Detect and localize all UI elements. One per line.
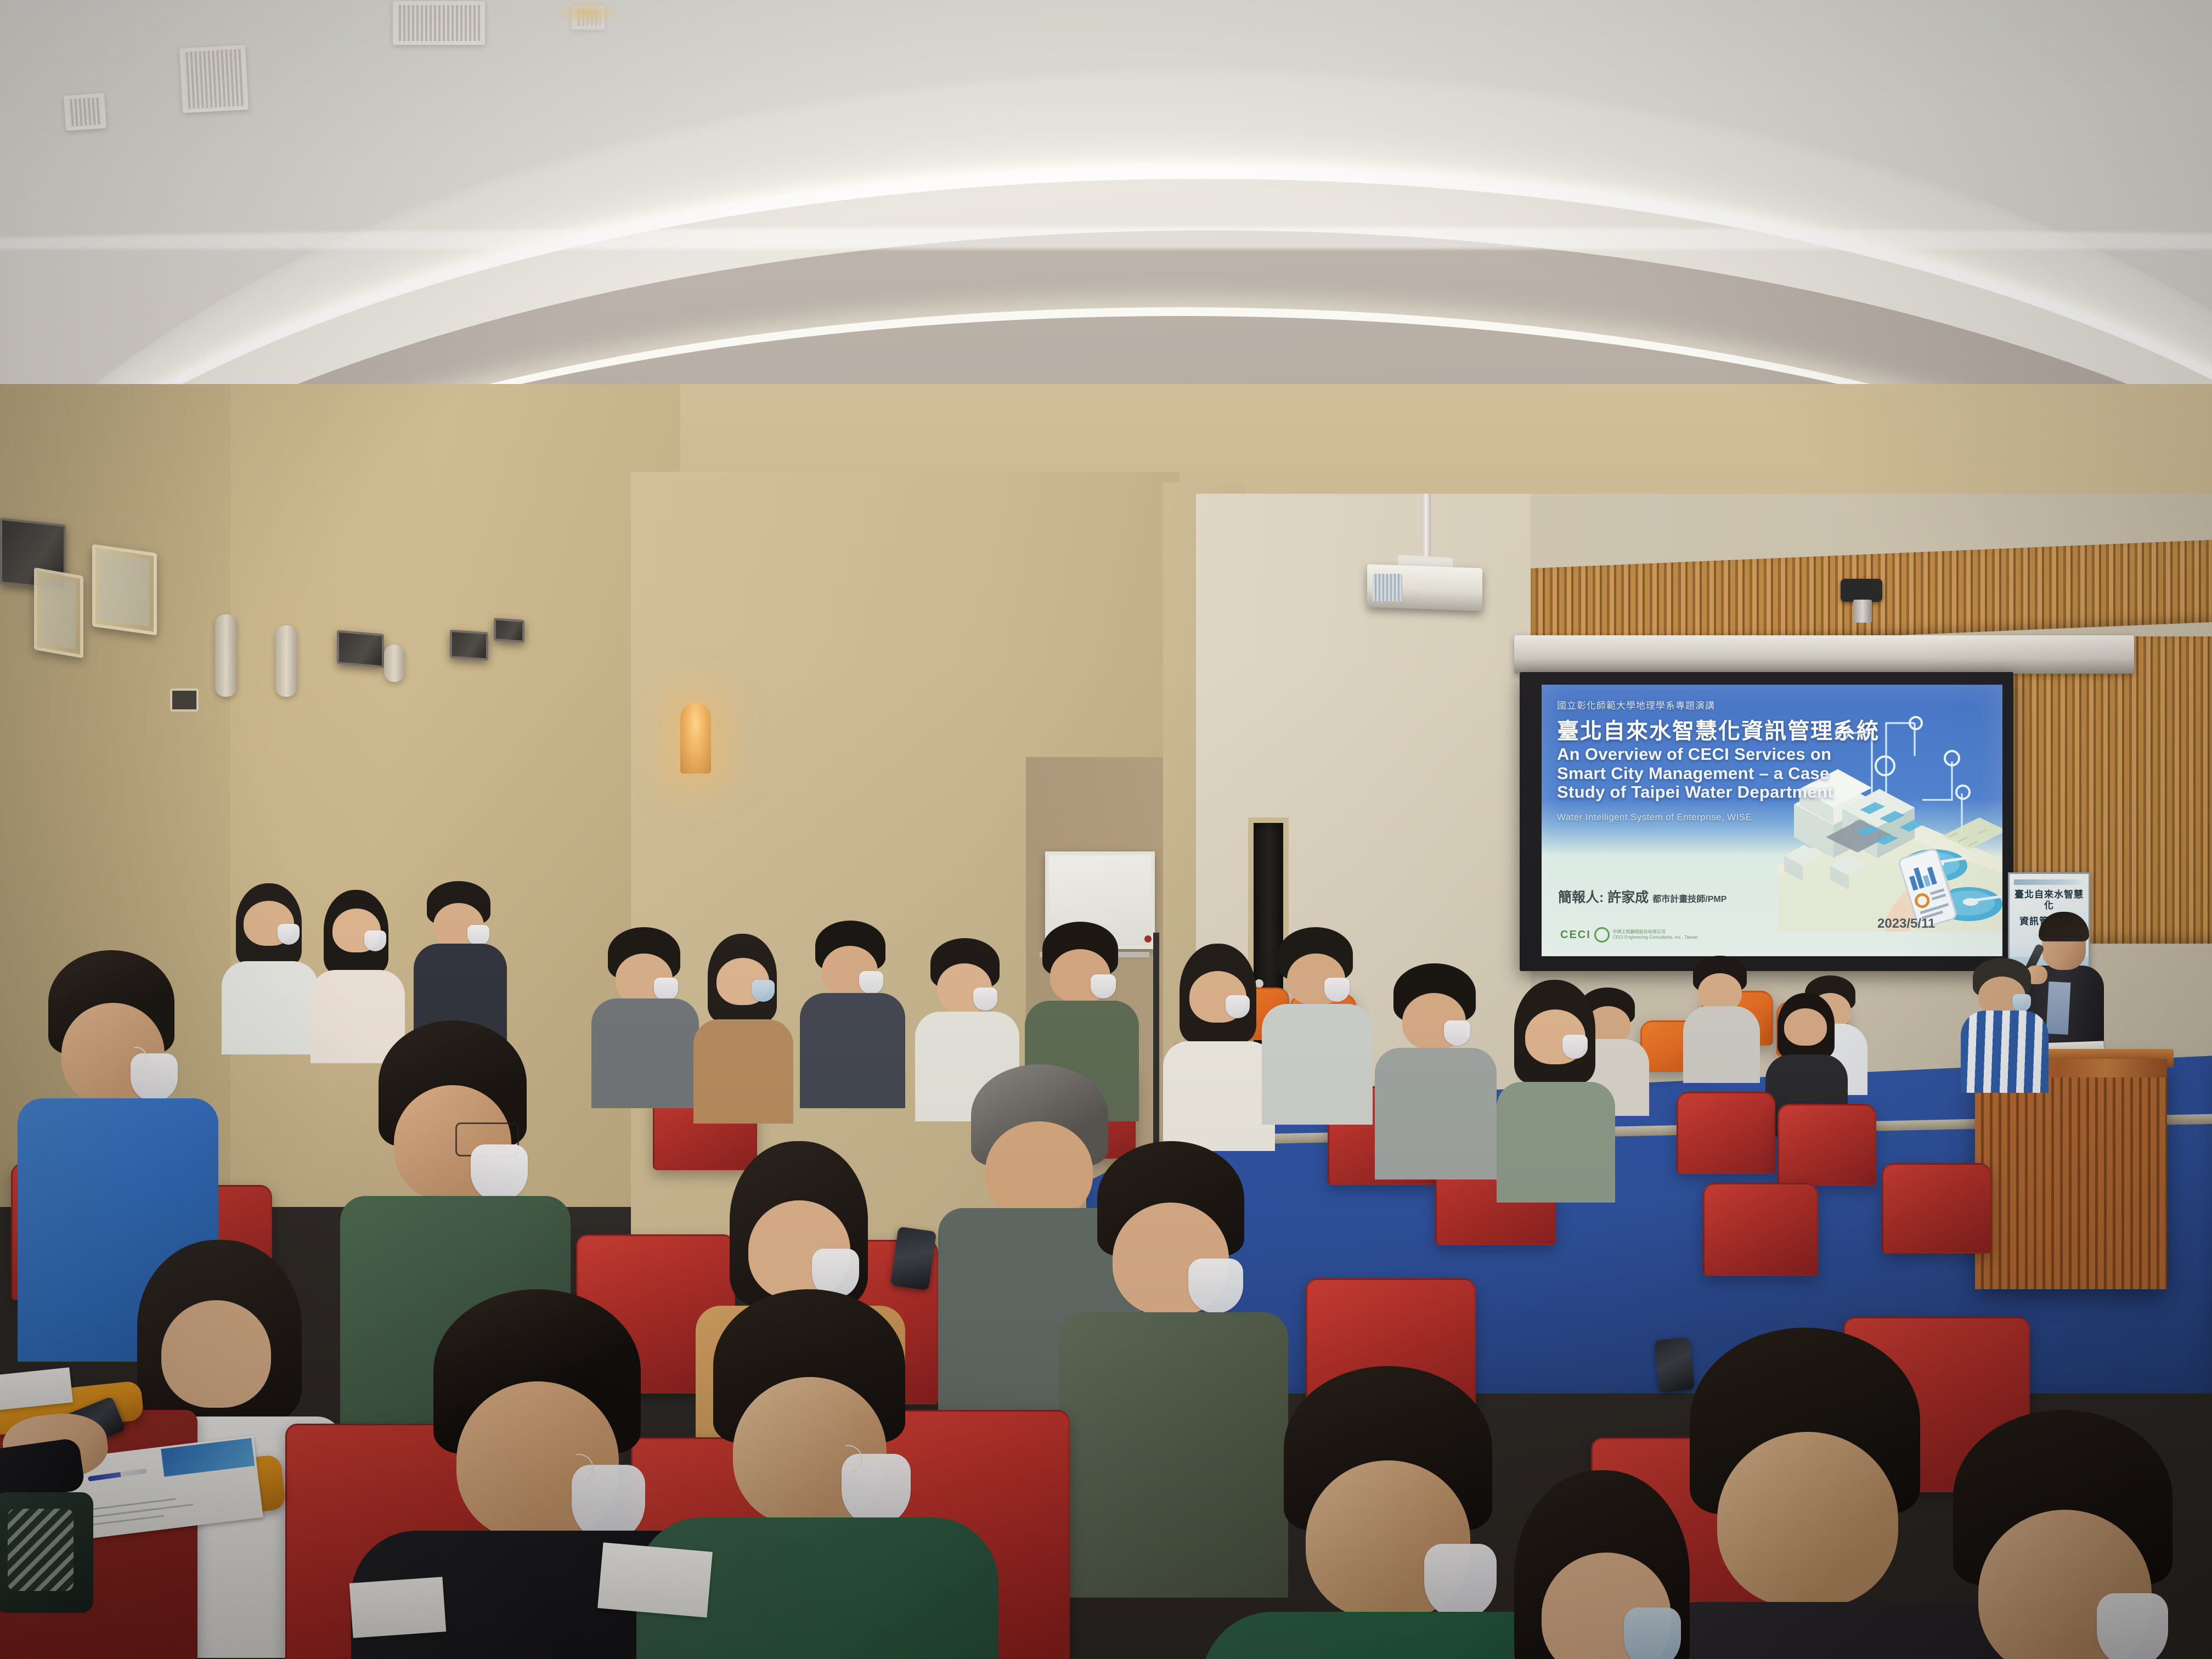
wall-light-tube [215, 614, 237, 697]
audience [0, 856, 2212, 1659]
wall-light-tube [275, 625, 297, 697]
wall-light-tube [384, 645, 405, 682]
bag-pattern [8, 1509, 74, 1591]
handout-paper [349, 1577, 447, 1638]
seat-red[interactable] [1882, 1163, 1991, 1254]
wall-speaker-dark [450, 630, 488, 661]
slide-title-english: An Overview of CECI Services on Smart Ci… [1557, 745, 1864, 802]
handout-paper [597, 1543, 713, 1618]
ceiling-air-vent [179, 45, 249, 113]
wall-mounted-monitor [170, 689, 199, 712]
projection-screen-housing [1514, 635, 2134, 674]
slide-title-line-3: Study of Taipei Water Department [1557, 783, 1864, 802]
projector-lens [1373, 574, 1402, 601]
seat-red[interactable] [1677, 1092, 1775, 1174]
slide-title-line-1: An Overview of CECI Services on [1557, 745, 1864, 764]
wall-sconce-lamp [680, 702, 711, 774]
ceiling-air-vent [393, 1, 485, 45]
wall-speaker-dark [494, 618, 524, 643]
camera-mount [1853, 600, 1872, 623]
surveillance-camera [1841, 579, 1882, 602]
wall-speaker [92, 544, 157, 636]
smartphone[interactable] [890, 1227, 936, 1291]
lecture-hall-photo: 國立彰化師範大學地理學系專題演講 臺北自來水智慧化資訊管理系統 An Overv… [0, 0, 2212, 1659]
slide-title-line-2: Smart City Management – a Case [1557, 764, 1864, 783]
slide-kicker: 國立彰化師範大學地理學系專題演講 [1557, 698, 1864, 712]
wall-speaker-dark [337, 630, 384, 668]
ceiling-air-vent [64, 93, 106, 131]
slide-title-chinese: 臺北自來水智慧化資訊管理系統 [1557, 713, 1941, 745]
seat-red[interactable] [1778, 1104, 1876, 1186]
ceiling-spot-light [554, 0, 620, 25]
seat-red[interactable] [1703, 1183, 1818, 1276]
smartphone[interactable] [1654, 1337, 1695, 1393]
wall-speaker [34, 567, 83, 658]
slide-subtitle: Water Intelligent System of Enterprise, … [1557, 812, 1864, 823]
